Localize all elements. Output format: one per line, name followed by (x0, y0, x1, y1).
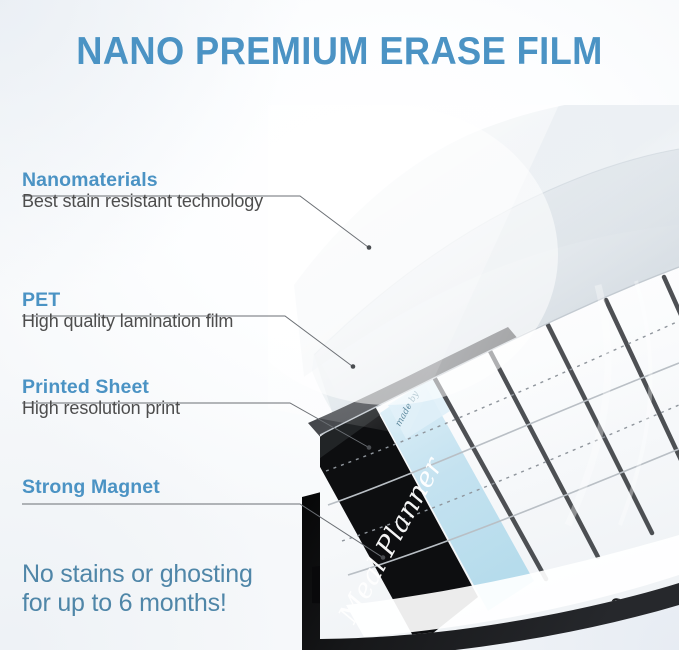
tagline: No stains or ghosting for up to 6 months… (22, 560, 253, 619)
nano-premium-erase-film-infographic: MON TUE WED Meal Planner made by (0, 0, 679, 650)
callout-strong-magnet: Strong Magnet (22, 477, 160, 497)
callout-description: Best stain resistant technology (22, 191, 263, 211)
page-title: NANO PREMIUM ERASE FILM (24, 30, 655, 74)
callout-description: High resolution print (22, 398, 180, 418)
callout-title: Strong Magnet (22, 477, 160, 497)
callout-pet: PET High quality lamination film (22, 290, 233, 332)
callout-title: PET (22, 290, 233, 310)
product-photo: MON TUE WED Meal Planner made by (268, 105, 679, 650)
callout-printed-sheet: Printed Sheet High resolution print (22, 377, 180, 419)
callout-description: High quality lamination film (22, 311, 233, 331)
callout-title: Nanomaterials (22, 170, 263, 190)
callout-nanomaterials: Nanomaterials Best stain resistant techn… (22, 170, 263, 212)
callout-title: Printed Sheet (22, 377, 180, 397)
product-illustration: MON TUE WED Meal Planner made by (268, 105, 679, 650)
